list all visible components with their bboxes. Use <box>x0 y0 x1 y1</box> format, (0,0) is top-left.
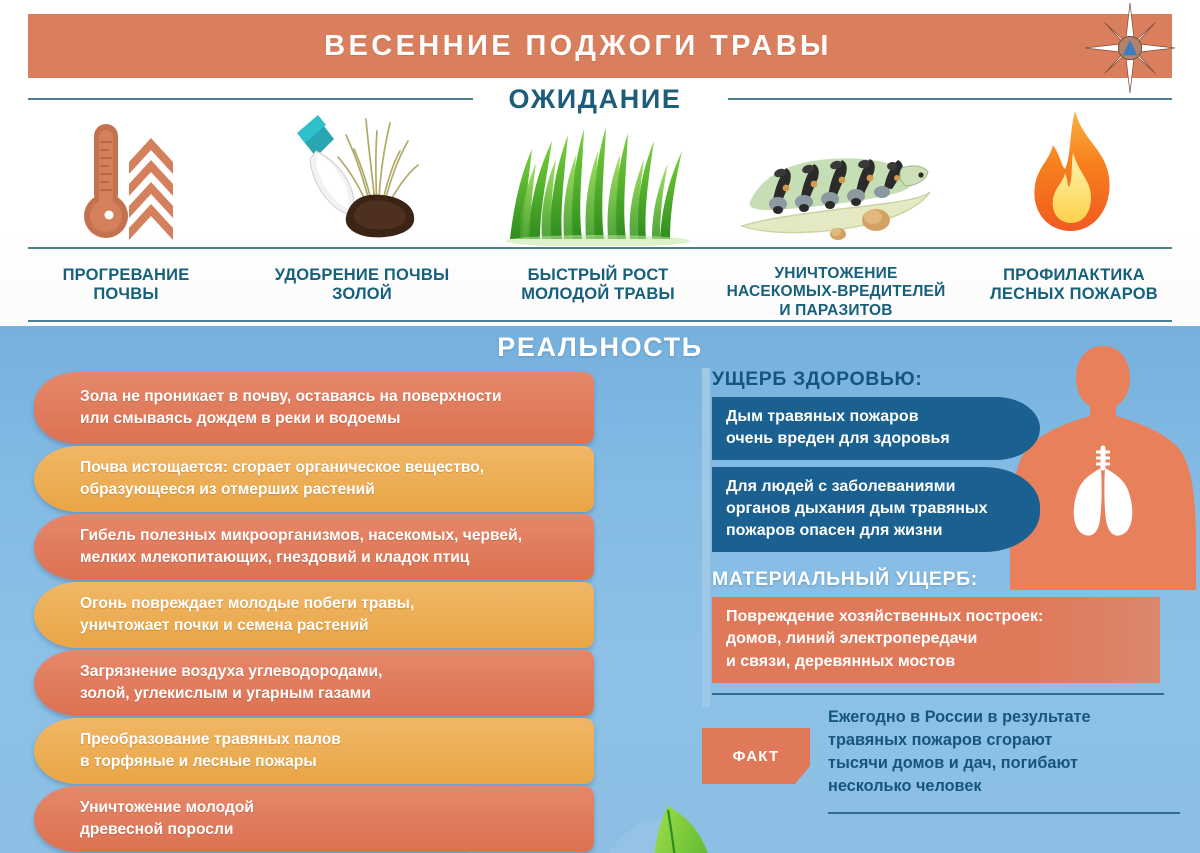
expectation-items: ПРОГРЕВАНИЕ ПОЧВЫ <box>8 100 1192 320</box>
ribbon-text: Загрязнение воздуха углеводородами, золо… <box>80 650 600 716</box>
expectation-item-label: УНИЧТОЖЕНИЕ НАСЕКОМЫХ-ВРЕДИТЕЛЕЙ И ПАРАЗ… <box>727 265 946 320</box>
reality-ribbon: Огонь повреждает молодые побеги травы, у… <box>34 582 694 654</box>
material-damage-heading: МАТЕРИАЛЬНЫЙ УЩЕРБ: <box>712 568 1172 591</box>
trowel-soil-icon <box>244 100 480 248</box>
fact-block: ФАКТ Ежегодно в России в результате трав… <box>700 706 1180 816</box>
reality-info-column: УЩЕРБ ЗДОРОВЬЮ: Дым травяных пожаров оче… <box>712 368 1172 707</box>
divider-below-labels <box>28 320 1172 322</box>
reality-ribbon: Зола не проникает в почву, оставаясь на … <box>34 372 694 450</box>
reality-ribbon: Гибель полезных микроорганизмов, насеком… <box>34 514 694 586</box>
health-damage-heading: УЩЕРБ ЗДОРОВЬЮ: <box>712 368 1172 391</box>
fact-tag: ФАКТ <box>702 728 810 784</box>
infographic-poster: ВЕСЕННИЕ ПОДЖОГИ ТРАВЫ ОЖИДАНИЕ <box>0 0 1200 853</box>
ribbon-text: Преобразование травяных палов в торфяные… <box>80 718 600 784</box>
page-title: ВЕСЕННИЕ ПОДЖОГИ ТРАВЫ <box>28 14 1128 78</box>
column-left-edge <box>702 368 710 707</box>
health-damage-box: Дым травяных пожаров очень вреден для зд… <box>712 397 1040 460</box>
expectation-item-soil-warming: ПРОГРЕВАНИЕ ПОЧВЫ <box>8 100 244 320</box>
reality-ribbon: Почва истощается: сгорает органическое в… <box>34 446 694 518</box>
expectation-item-grass-growth: БЫСТРЫЙ РОСТ МОЛОДОЙ ТРАВЫ <box>480 100 716 320</box>
ribbon-text: Гибель полезных микроорганизмов, насеком… <box>80 514 600 580</box>
reality-ribbon: Загрязнение воздуха углеводородами, золо… <box>34 650 694 722</box>
reality-section: РЕАЛЬНОСТЬ Зола не проникает в почву, ос… <box>0 326 1200 853</box>
reality-ribbons: Зола не проникает в почву, оставаясь на … <box>34 372 694 853</box>
health-damage-box: Для людей с заболеваниями органов дыхани… <box>712 467 1040 552</box>
expectation-item-label: БЫСТРЫЙ РОСТ МОЛОДОЙ ТРАВЫ <box>521 266 675 305</box>
expectation-section: ВЕСЕННИЕ ПОДЖОГИ ТРАВЫ ОЖИДАНИЕ <box>0 0 1200 326</box>
expectation-item-pest-destruction: УНИЧТОЖЕНИЕ НАСЕКОМЫХ-ВРЕДИТЕЛЕЙ И ПАРАЗ… <box>716 100 956 320</box>
thermometer-up-icon <box>8 100 244 248</box>
divider-above-labels <box>28 247 1172 249</box>
fact-text: Ежегодно в России в результате травяных … <box>828 706 1178 799</box>
expectation-item-label: ПРОГРЕВАНИЕ ПОЧВЫ <box>63 266 190 305</box>
info-divider <box>712 693 1164 695</box>
expectation-item-label: УДОБРЕНИЕ ПОЧВЫ ЗОЛОЙ <box>275 266 450 305</box>
expectation-item-fire-prevention: ПРОФИЛАКТИКА ЛЕСНЫХ ПОЖАРОВ <box>956 100 1192 320</box>
material-damage-box: Повреждение хозяйственных построек: домо… <box>712 597 1160 682</box>
expectation-item-label: ПРОФИЛАКТИКА ЛЕСНЫХ ПОЖАРОВ <box>990 266 1158 305</box>
green-grass-icon <box>480 100 716 248</box>
ribbon-text: Почва истощается: сгорает органическое в… <box>80 446 600 512</box>
ribbon-text: Зола не проникает в почву, оставаясь на … <box>80 372 600 444</box>
emercom-star-icon <box>1085 2 1175 94</box>
fact-divider <box>828 812 1180 814</box>
expectation-item-ash-fertilizer: УДОБРЕНИЕ ПОЧВЫ ЗОЛОЙ <box>244 100 480 320</box>
header-bar: ВЕСЕННИЕ ПОДЖОГИ ТРАВЫ <box>28 14 1172 78</box>
reality-ribbon: Преобразование травяных палов в торфяные… <box>34 718 694 790</box>
ribbon-text: Уничтожение молодой древесной поросли <box>80 786 600 852</box>
reality-title: РЕАЛЬНОСТЬ <box>0 332 1200 363</box>
caterpillar-icon <box>716 100 956 247</box>
flame-icon <box>956 100 1192 248</box>
ribbon-text: Огонь повреждает молодые побеги травы, у… <box>80 582 600 648</box>
reality-ribbon: Уничтожение молодой древесной поросли <box>34 786 694 853</box>
